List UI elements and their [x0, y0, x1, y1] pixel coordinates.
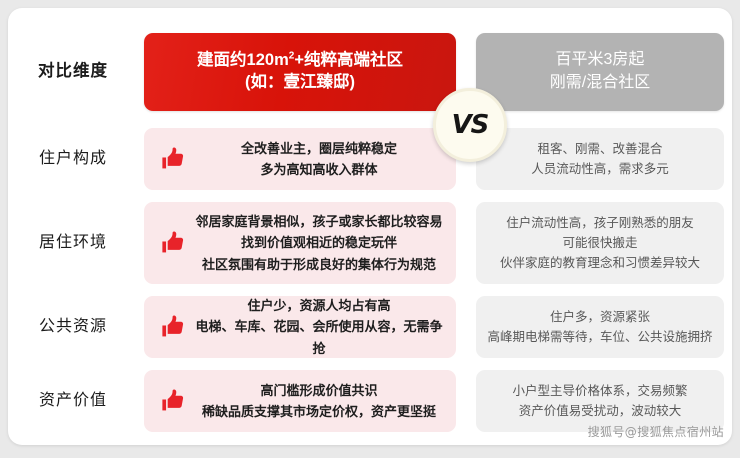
row-con-text: 住户多，资源紧张 高峰期电梯需等待，车位、公共设施拥挤	[476, 307, 724, 348]
thumbs-up-icon	[160, 230, 186, 256]
watermark: 搜狐号@搜狐焦点宿州站	[588, 423, 724, 440]
row-con-text: 小户型主导价格体系，交易频繁 资产价值易受扰动，波动较大	[476, 381, 724, 422]
row-con-cell: 租客、刚需、改善混合 人员流动性高，需求多元	[476, 128, 724, 190]
thumbs-up-icon	[160, 314, 186, 340]
row-pro-text: 高门槛形成价值共识 稀缺品质支撑其市场定价权，资产更坚挺	[144, 380, 456, 422]
row-con-line: 伙伴家庭的教育理念和习惯差异较大	[486, 253, 714, 273]
vs-badge: VS	[433, 88, 507, 162]
header-pro-line1-post: +纯粹高端社区	[294, 51, 403, 69]
row-label: 居住环境	[8, 233, 138, 252]
row-con-line: 人员流动性高，需求多元	[486, 159, 714, 179]
thumbs-up-icon	[160, 146, 186, 172]
row-con-cell: 住户流动性高，孩子刚熟悉的朋友 可能很快搬走 伙伴家庭的教育理念和习惯差异较大	[476, 202, 724, 284]
header-pro-line1-pre: 建面约120m	[197, 51, 289, 69]
row-con-line: 资产价值易受扰动，波动较大	[486, 401, 714, 421]
vs-badge-label: VS	[452, 110, 489, 140]
row-pro-cell: 邻居家庭背景相似，孩子或家长都比较容易 找到价值观相近的稳定玩伴 社区氛围有助于…	[144, 202, 456, 284]
thumbs-up-icon	[160, 388, 186, 414]
row-con-text: 住户流动性高，孩子刚熟悉的朋友 可能很快搬走 伙伴家庭的教育理念和习惯差异较大	[476, 213, 724, 274]
row-con-line: 住户流动性高，孩子刚熟悉的朋友	[486, 213, 714, 233]
table-row: 居住环境 邻居家庭背景相似，孩子或家长都比较容易 找到价值观相近的稳定玩伴 社区…	[8, 202, 732, 284]
header-con-line1: 百平米3房起	[556, 51, 645, 68]
table-row: 公共资源 住户少，资源人均占有高 电梯、车库、花园、会所使用从容，无需争抢 住户…	[8, 296, 732, 358]
row-pro-cell: 全改善业主，圈层纯粹稳定 多为高知高收入群体	[144, 128, 456, 190]
row-pro-text: 住户少，资源人均占有高 电梯、车库、花园、会所使用从容，无需争抢	[144, 295, 456, 358]
table-row: 住户构成 全改善业主，圈层纯粹稳定 多为高知高收入群体 租客、刚需、改善混合 人…	[8, 128, 732, 190]
row-pro-text: 全改善业主，圈层纯粹稳定 多为高知高收入群体	[144, 138, 456, 180]
row-pro-line: 电梯、车库、花园、会所使用从容，无需争抢	[192, 316, 446, 358]
row-pro-line: 邻居家庭背景相似，孩子或家长都比较容易	[192, 211, 446, 232]
row-con-line: 住户多，资源紧张	[486, 307, 714, 327]
comparison-table: 对比维度 建面约120m2+纯粹高端社区 (如：壹江臻邸) 百平米3房起 刚需/…	[8, 8, 732, 445]
header-con-column: 百平米3房起 刚需/混合社区	[476, 33, 724, 111]
row-label: 公共资源	[8, 317, 138, 336]
row-pro-line: 找到价值观相近的稳定玩伴	[192, 232, 446, 253]
header-pro-line2: (如：壹江臻邸)	[245, 73, 355, 91]
row-con-line: 小户型主导价格体系，交易频繁	[486, 381, 714, 401]
row-pro-line: 稀缺品质支撑其市场定价权，资产更坚挺	[192, 401, 446, 422]
row-pro-line: 住户少，资源人均占有高	[192, 295, 446, 316]
row-con-line: 高峰期电梯需等待，车位、公共设施拥挤	[486, 327, 714, 347]
table-header-row: 对比维度 建面约120m2+纯粹高端社区 (如：壹江臻邸) 百平米3房起 刚需/…	[8, 28, 732, 116]
row-con-cell: 住户多，资源紧张 高峰期电梯需等待，车位、公共设施拥挤	[476, 296, 724, 358]
header-con-line2: 刚需/混合社区	[550, 74, 650, 91]
row-pro-cell: 高门槛形成价值共识 稀缺品质支撑其市场定价权，资产更坚挺	[144, 370, 456, 432]
row-pro-cell: 住户少，资源人均占有高 电梯、车库、花园、会所使用从容，无需争抢	[144, 296, 456, 358]
row-con-text: 租客、刚需、改善混合 人员流动性高，需求多元	[476, 139, 724, 180]
row-label: 资产价值	[8, 391, 138, 410]
row-pro-text: 邻居家庭背景相似，孩子或家长都比较容易 找到价值观相近的稳定玩伴 社区氛围有助于…	[144, 211, 456, 274]
header-pro-column: 建面约120m2+纯粹高端社区 (如：壹江臻邸)	[144, 33, 456, 111]
row-label: 住户构成	[8, 149, 138, 168]
row-pro-line: 社区氛围有助于形成良好的集体行为规范	[192, 254, 446, 275]
row-pro-line: 全改善业主，圈层纯粹稳定	[192, 138, 446, 159]
row-pro-line: 多为高知高收入群体	[192, 159, 446, 180]
row-con-line: 可能很快搬走	[486, 233, 714, 253]
comparison-card: 对比维度 建面约120m2+纯粹高端社区 (如：壹江臻邸) 百平米3房起 刚需/…	[8, 8, 732, 445]
row-con-line: 租客、刚需、改善混合	[486, 139, 714, 159]
dimension-header-label: 对比维度	[8, 62, 138, 82]
row-pro-line: 高门槛形成价值共识	[192, 380, 446, 401]
